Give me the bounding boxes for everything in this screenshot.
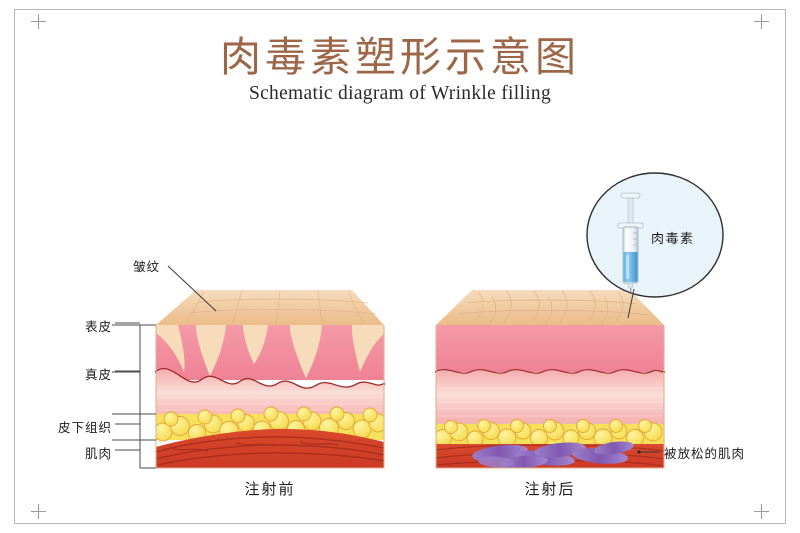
layer-label-muscle: 肌肉 (44, 443, 112, 462)
panel-after (435, 290, 665, 470)
annotation-relaxed-muscle: 被放松的肌肉 (664, 443, 745, 462)
relaxed-muscle-leader-dot (637, 450, 640, 453)
dermis-upper-before (156, 325, 384, 380)
panel-caption-before: 注射前 (200, 478, 340, 499)
panel-before (154, 290, 387, 468)
annotation-wrinkle: 皱纹 (133, 256, 160, 275)
poster-page: 肉毒素塑形示意图 Schematic diagram of Wrinkle fi… (0, 0, 800, 533)
annotation-botox: 肉毒素 (651, 228, 695, 247)
layer-label-dermis: 真皮 (44, 364, 112, 383)
panel-caption-after: 注射后 (480, 478, 620, 499)
layer-label-subcutaneous: 皮下组织 (30, 417, 112, 436)
dermis-upper-after (436, 325, 664, 372)
layer-label-epidermis: 表皮 (44, 316, 112, 335)
layer-bracket (112, 323, 156, 468)
